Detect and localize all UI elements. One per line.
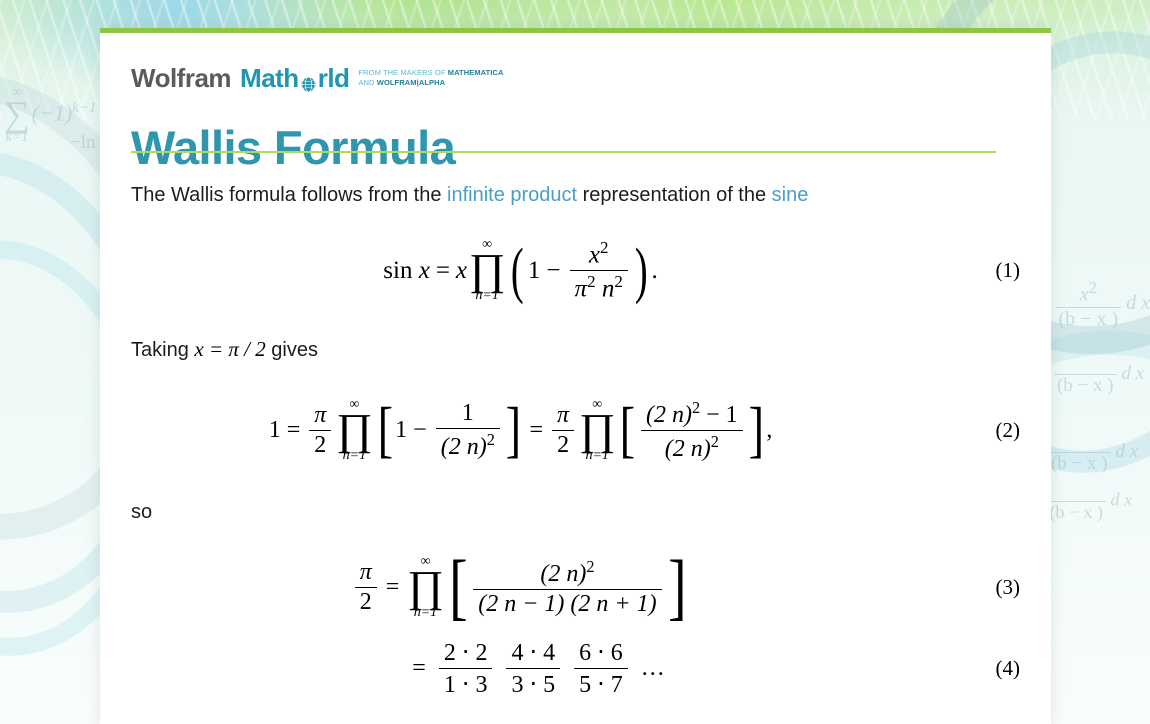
intro-text-middle: representation of the — [577, 184, 772, 206]
page-root: ∞ ∑ k=1 (−1)k−1 −ln x2 (b − x ) d x (b −… — [0, 0, 1150, 724]
eq1-frac-numerator: x2 — [570, 238, 628, 271]
globe-icon — [300, 71, 317, 88]
eq1-equals: = — [436, 257, 450, 285]
eq4-f1-den: 1 ⋅ 3 — [439, 669, 493, 699]
eq2-right-den-exp: 2 — [711, 432, 719, 451]
eq3-product-symbol: ∏ — [407, 569, 443, 605]
equation-3-number: (3) — [941, 575, 1051, 600]
eq2-product-symbol-1: ∏ — [336, 412, 372, 448]
eq4-ellipsis: … — [641, 655, 665, 682]
taking-math: x = π / 2 — [194, 337, 265, 361]
eq2-pi-2: π — [552, 402, 574, 431]
eq3-num-base: (2 n) — [540, 561, 586, 587]
eq1-den-pi-exp: 2 — [587, 272, 596, 291]
eq2-bracket-close-1: ] — [505, 410, 520, 451]
link-infinite-product[interactable]: infinite product — [447, 184, 577, 206]
eq2-product-operator-2: ∞ ∏ n=1 — [579, 398, 615, 463]
link-sine[interactable]: sine — [772, 184, 809, 206]
eq1-fraction: x2 π2 n2 — [570, 238, 628, 304]
eq4-fraction-1: 2 ⋅ 2 1 ⋅ 3 — [439, 638, 493, 699]
eq1-one: 1 — [528, 257, 541, 285]
equation-row-1: sin x = x ∞ ∏ n=1 ( 1 − x2 π2 n2 ) — [100, 238, 1051, 304]
eq4-equals: = — [412, 655, 426, 682]
eq2-right-num-minus-one: − 1 — [706, 402, 738, 428]
eq1-product-operator: ∞ ∏ n=1 — [469, 238, 505, 303]
eq2-right-num-base: (2 n) — [646, 402, 692, 428]
eq1-den-pi: π — [575, 276, 588, 303]
eq2-pi-over-two-2: π 2 — [552, 402, 574, 459]
eq3-numerator: (2 n)2 — [473, 557, 661, 590]
eq4-f2-num: 4 ⋅ 4 — [506, 638, 560, 669]
logo-wolfram-text: Wolfram — [131, 65, 231, 91]
eq1-sin: sin — [383, 257, 412, 285]
eq1-num-x: x — [589, 241, 600, 268]
eq3-bracket-open: [ — [449, 563, 467, 612]
eq1-num-exp: 2 — [600, 238, 609, 257]
equation-row-3: π 2 = ∞ ∏ n=1 [ (2 n)2 (2 n − 1) (2 n + … — [100, 555, 1051, 620]
eq1-den-n-exp: 2 — [614, 272, 623, 291]
eq2-one: 1 — [269, 417, 281, 444]
eq3-product-operator: ∞ ∏ n=1 — [407, 555, 443, 620]
eq3-bracket-close: ] — [668, 563, 686, 612]
eq4-f3-den: 5 ⋅ 7 — [574, 669, 628, 699]
equation-row-4: = 2 ⋅ 2 1 ⋅ 3 4 ⋅ 4 3 ⋅ 5 6 ⋅ 6 5 ⋅ 7 … — [100, 638, 1051, 699]
equation-2-number: (2) — [941, 418, 1051, 443]
eq4-f3-num: 6 ⋅ 6 — [574, 638, 628, 669]
eq1-paren-close: ) — [635, 252, 648, 290]
equation-1-body: sin x = x ∞ ∏ n=1 ( 1 − x2 π2 n2 ) — [100, 238, 941, 304]
eq2-right-den-base: (2 n) — [665, 436, 711, 462]
equation-3-body: π 2 = ∞ ∏ n=1 [ (2 n)2 (2 n − 1) (2 n + … — [100, 555, 941, 620]
tagline-brand-mathematica: MATHEMATICA — [448, 68, 504, 77]
equation-2-body: 1 = π 2 ∞ ∏ n=1 [ 1 − 1 — [100, 398, 941, 463]
eq2-right-den: (2 n)2 — [641, 431, 743, 463]
tagline-prefix-1: FROM THE MAKERS OF — [358, 68, 447, 77]
eq1-product-symbol: ∏ — [469, 252, 505, 288]
title-divider — [131, 151, 996, 153]
eq1-period: . — [651, 257, 657, 285]
intro-paragraph: The Wallis formula follows from the infi… — [131, 183, 808, 208]
page-title: Wallis Formula — [131, 122, 455, 174]
eq2-two-2: 2 — [552, 431, 574, 459]
eq2-inner-den: (2 n)2 — [436, 429, 500, 461]
eq2-right-num: (2 n)2 − 1 — [641, 398, 743, 431]
taking-suffix: gives — [266, 339, 318, 361]
eq2-bracket-open-1: [ — [377, 410, 392, 451]
eq3-two: 2 — [355, 588, 377, 616]
logo-tagline: FROM THE MAKERS OF MATHEMATICA AND WOLFR… — [358, 68, 503, 88]
eq4-fraction-2: 4 ⋅ 4 3 ⋅ 5 — [506, 638, 560, 699]
eq2-pi-over-two: π 2 — [309, 402, 331, 459]
taking-prefix: Taking — [131, 339, 194, 361]
eq1-factor-x: x — [456, 257, 467, 285]
tagline-line-1: FROM THE MAKERS OF MATHEMATICA — [358, 68, 503, 78]
eq4-f2-den: 3 ⋅ 5 — [506, 669, 560, 699]
eq1-paren-open: ( — [511, 252, 524, 290]
logo-mathworld-text: Mathrld — [240, 65, 349, 91]
equation-4-number: (4) — [941, 656, 1051, 681]
eq2-minus: − — [413, 417, 427, 444]
eq3-equals: = — [386, 574, 400, 601]
eq2-right-fraction: (2 n)2 − 1 (2 n)2 — [641, 398, 743, 463]
eq2-right-num-exp: 2 — [692, 398, 700, 417]
eq2-bracket-close-2: ] — [748, 410, 763, 451]
eq2-equals-2: = — [530, 417, 544, 444]
intro-text-prefix: The Wallis formula follows from the — [131, 184, 447, 206]
logo-math-word: Math — [240, 65, 299, 91]
eq2-inner-fraction: 1 (2 n)2 — [436, 400, 500, 461]
eq2-pi: π — [309, 402, 331, 431]
eq2-product-symbol-2: ∏ — [579, 412, 615, 448]
site-logo[interactable]: Wolfram Mathrld FROM THE MAKERS OF MATHE… — [131, 59, 504, 91]
eq3-num-exp: 2 — [586, 557, 594, 576]
tagline-line-2: AND WOLFRAM|ALPHA — [358, 78, 503, 88]
tagline-brand-wolframalpha: WOLFRAM|ALPHA — [377, 78, 445, 87]
eq4-f1-num: 2 ⋅ 2 — [439, 638, 493, 669]
taking-paragraph: Taking x = π / 2 gives — [131, 336, 318, 363]
eq1-den-n: n — [602, 276, 615, 303]
eq2-comma: , — [766, 417, 772, 444]
eq2-inner-den-base: (2 n) — [441, 434, 487, 460]
eq2-bracket-open-2: [ — [620, 410, 635, 451]
eq2-product-operator-1: ∞ ∏ n=1 — [336, 398, 372, 463]
content-card: Wolfram Mathrld FROM THE MAKERS OF MATHE… — [100, 28, 1051, 724]
eq2-equals-1: = — [287, 417, 301, 444]
eq1-x: x — [419, 257, 430, 285]
eq2-inner-num: 1 — [436, 400, 500, 429]
eq2-two: 2 — [309, 431, 331, 459]
equation-4-body: = 2 ⋅ 2 1 ⋅ 3 4 ⋅ 4 3 ⋅ 5 6 ⋅ 6 5 ⋅ 7 … — [100, 638, 941, 699]
equation-1-number: (1) — [941, 258, 1051, 283]
eq3-pi-over-two: π 2 — [355, 559, 377, 616]
eq3-pi: π — [355, 559, 377, 588]
tagline-prefix-2: AND — [358, 78, 376, 87]
logo-world-word: rld — [318, 65, 350, 91]
eq2-inner-one: 1 — [395, 417, 407, 444]
eq4-fraction-3: 6 ⋅ 6 5 ⋅ 7 — [574, 638, 628, 699]
eq3-fraction: (2 n)2 (2 n − 1) (2 n + 1) — [473, 557, 661, 618]
eq2-inner-den-exp: 2 — [487, 430, 495, 449]
eq1-minus: − — [546, 257, 560, 285]
eq3-denominator: (2 n − 1) (2 n + 1) — [473, 590, 661, 618]
eq1-frac-denominator: π2 n2 — [570, 271, 628, 303]
equation-row-2: 1 = π 2 ∞ ∏ n=1 [ 1 − 1 — [100, 398, 1051, 463]
so-paragraph: so — [131, 500, 152, 525]
